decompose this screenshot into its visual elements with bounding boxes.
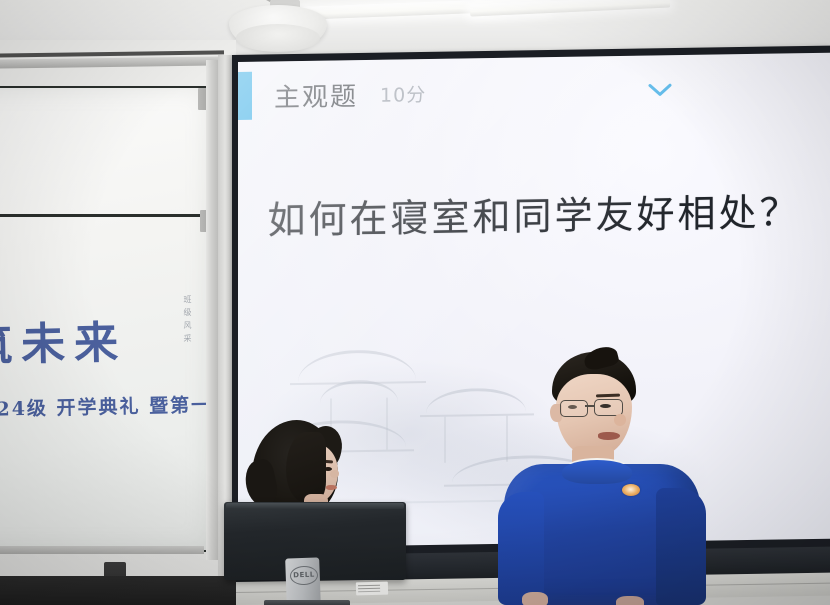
header-accent-bar (238, 72, 252, 120)
man-sweatshirt-collar (562, 460, 632, 484)
man-hand-left (522, 592, 548, 605)
monitor-spec-label (356, 582, 388, 596)
dell-monitor[interactable]: DELL (224, 502, 406, 605)
question-score-label: 10分 (380, 80, 426, 108)
whiteboard-frame-post (206, 60, 218, 560)
man-nose (614, 414, 626, 426)
man-sleeve-right (656, 488, 706, 605)
slide-question-text: 如何在寝室和同学友好相处？ (238, 181, 830, 245)
whiteboard-heading: 筑未来 (0, 306, 128, 373)
woman-nose (330, 470, 339, 478)
whiteboard-vertical-note: 班级风采 (182, 295, 193, 347)
left-desk-surface (0, 576, 236, 605)
standing-student-speaker (498, 352, 710, 605)
glasses-icon-bridge (585, 405, 595, 407)
monitor-top-edge (226, 503, 404, 509)
monitor-base (264, 600, 350, 605)
woman-lips (326, 485, 337, 490)
man-hand-right (616, 596, 644, 605)
chest-logo-patch (622, 484, 640, 496)
classroom-scene: 筑未来 2024级 开学典礼 暨第一次班课 班级风采 主观题 10分 (0, 0, 830, 605)
question-type-label: 主观题 (274, 76, 358, 114)
chevron-down-icon[interactable] (648, 83, 672, 97)
slide-header: 主观题 10分 (238, 53, 830, 130)
whiteboard-ledge (0, 546, 204, 554)
whiteboard-panel-divider (0, 214, 206, 217)
woman-hair-front (286, 432, 326, 502)
man-sleeve-left (498, 492, 544, 605)
ceiling-speaker-face (236, 24, 320, 52)
watermark-pillar-3 (444, 417, 446, 463)
glasses-icon-left-lens (560, 400, 588, 417)
